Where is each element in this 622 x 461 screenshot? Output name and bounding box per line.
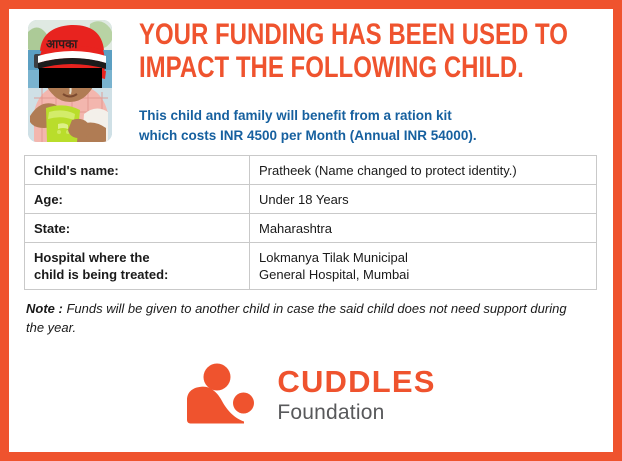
row-value-state: Maharashtra bbox=[250, 214, 597, 243]
card-inner: आपका bbox=[9, 9, 613, 452]
row-label-child-name: Child's name: bbox=[25, 156, 250, 185]
child-photo: आपका bbox=[28, 20, 112, 142]
table-row: State: Maharashtra bbox=[25, 214, 597, 243]
row-value-hospital-line-2: General Hospital, Mumbai bbox=[259, 266, 587, 283]
row-label-hospital-line-1: Hospital where the bbox=[34, 249, 240, 266]
page-title: YOUR FUNDING HAS BEEN USED TO IMPACT THE… bbox=[139, 18, 603, 84]
footnote-text: Funds will be given to another child in … bbox=[26, 301, 567, 335]
row-label-state: State: bbox=[25, 214, 250, 243]
headline-line-1: YOUR FUNDING HAS BEEN USED TO bbox=[139, 18, 603, 51]
table-row: Child's name: Pratheek (Name changed to … bbox=[25, 156, 597, 185]
logo-brand: CUDDLES bbox=[277, 366, 435, 397]
logo-wordmark: CUDDLES Foundation bbox=[277, 366, 435, 423]
subtitle-line-1: This child and family will benefit from … bbox=[139, 106, 619, 126]
table-row: Age: Under 18 Years bbox=[25, 185, 597, 214]
subtitle: This child and family will benefit from … bbox=[139, 106, 619, 145]
footnote-label: Note : bbox=[26, 301, 66, 316]
row-value-hospital: Lokmanya Tilak Municipal General Hospita… bbox=[250, 243, 597, 290]
cuddles-foundation-logo: CUDDLES Foundation bbox=[9, 351, 613, 437]
impact-card: आपका bbox=[0, 0, 622, 461]
footnote: Note : Funds will be given to another ch… bbox=[26, 299, 586, 337]
row-label-hospital: Hospital where the child is being treate… bbox=[25, 243, 250, 290]
row-value-hospital-line-1: Lokmanya Tilak Municipal bbox=[259, 249, 587, 266]
row-label-hospital-line-2: child is being treated: bbox=[34, 266, 240, 283]
logo-subbrand: Foundation bbox=[277, 402, 435, 423]
child-details-table: Child's name: Pratheek (Name changed to … bbox=[24, 155, 597, 290]
row-value-child-name: Pratheek (Name changed to protect identi… bbox=[250, 156, 597, 185]
cuddles-parent-child-icon bbox=[186, 363, 264, 425]
svg-text:आपका: आपका bbox=[46, 37, 78, 51]
table-row: Hospital where the child is being treate… bbox=[25, 243, 597, 290]
subtitle-line-2: which costs INR 4500 per Month (Annual I… bbox=[139, 126, 619, 146]
headline-line-2: IMPACT THE FOLLOWING CHILD. bbox=[139, 51, 603, 84]
row-value-age: Under 18 Years bbox=[250, 185, 597, 214]
card-header: आपका bbox=[28, 20, 603, 152]
row-label-age: Age: bbox=[25, 185, 250, 214]
